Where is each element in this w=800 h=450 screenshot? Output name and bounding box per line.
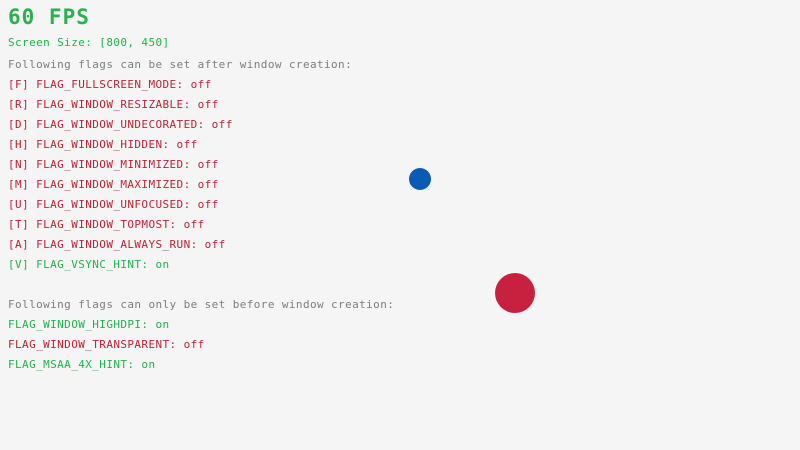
flag-row-flag-fullscreen-mode[interactable]: [F] FLAG_FULLSCREEN_MODE: off bbox=[8, 78, 428, 98]
heading-flags-after-creation: Following flags can be set after window … bbox=[8, 58, 352, 72]
flag-row-flag-window-minimized[interactable]: [N] FLAG_WINDOW_MINIMIZED: off bbox=[8, 158, 428, 178]
flag-row-flag-window-transparent: FLAG_WINDOW_TRANSPARENT: off bbox=[8, 338, 428, 358]
flag-row-flag-msaa-4x-hint: FLAG_MSAA_4X_HINT: on bbox=[8, 358, 428, 378]
screen-size-label: Screen Size: [800, 450] bbox=[8, 36, 170, 50]
flag-row-flag-window-topmost[interactable]: [T] FLAG_WINDOW_TOPMOST: off bbox=[8, 218, 428, 238]
red-ball-shape bbox=[495, 273, 535, 313]
fps-counter: 60 FPS bbox=[8, 4, 90, 30]
flag-row-flag-vsync-hint[interactable]: [V] FLAG_VSYNC_HINT: on bbox=[8, 258, 428, 278]
flag-list-after-creation: [F] FLAG_FULLSCREEN_MODE: off[R] FLAG_WI… bbox=[8, 78, 428, 278]
flag-row-flag-window-resizable[interactable]: [R] FLAG_WINDOW_RESIZABLE: off bbox=[8, 98, 428, 118]
flag-list-before-creation: FLAG_WINDOW_HIGHDPI: onFLAG_WINDOW_TRANS… bbox=[8, 318, 428, 378]
flag-row-flag-window-hidden[interactable]: [H] FLAG_WINDOW_HIDDEN: off bbox=[8, 138, 428, 158]
flag-row-flag-window-highdpi: FLAG_WINDOW_HIGHDPI: on bbox=[8, 318, 428, 338]
flag-row-flag-window-always-run[interactable]: [A] FLAG_WINDOW_ALWAYS_RUN: off bbox=[8, 238, 428, 258]
app-window: 60 FPS Screen Size: [800, 450] Following… bbox=[0, 0, 800, 450]
flag-row-flag-window-maximized[interactable]: [M] FLAG_WINDOW_MAXIMIZED: off bbox=[8, 178, 428, 198]
blue-ball-shape bbox=[409, 168, 431, 190]
heading-flags-before-creation: Following flags can only be set before w… bbox=[8, 298, 394, 312]
flag-row-flag-window-undecorated[interactable]: [D] FLAG_WINDOW_UNDECORATED: off bbox=[8, 118, 428, 138]
flag-row-flag-window-unfocused[interactable]: [U] FLAG_WINDOW_UNFOCUSED: off bbox=[8, 198, 428, 218]
